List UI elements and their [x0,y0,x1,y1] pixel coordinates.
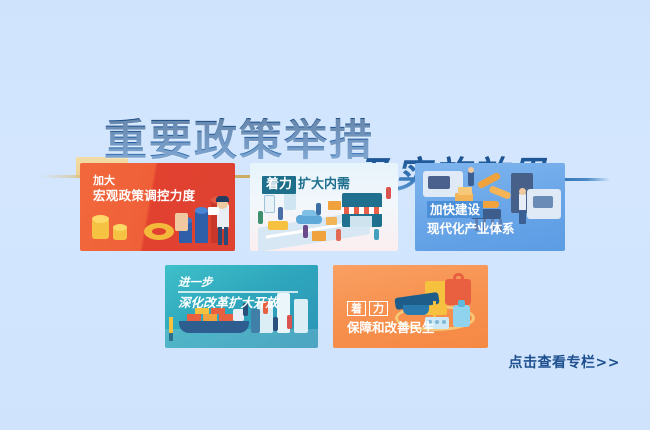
card-livelihood[interactable]: 着力 保障和改善民生 [333,265,488,348]
page-title-line1: 重要政策举措 [104,118,374,164]
card-caption: 加大 宏观政策调控力度 [93,174,195,204]
card-expand-demand[interactable]: 着力扩大内需 [250,163,398,251]
card-macro-policy[interactable]: 加大 宏观政策调控力度 [80,163,235,251]
card-caption-line1: 加快建设 [427,201,483,219]
card-reform-opening[interactable]: 进一步 深化改革扩大开放 [165,265,318,348]
card-caption: 进一步 深化改革扩大开放 [178,275,298,311]
card-caption-line2: 宏观政策调控力度 [93,188,195,203]
card-caption-rest: 扩大内需 [298,177,350,192]
card-caption-tag2: 力 [369,301,388,317]
card-caption-line1: 加大 [93,174,115,187]
view-column-link[interactable]: 点击查看专栏>> [509,352,620,372]
card-modern-industry[interactable]: 加快建设 现代化产业体系 [415,163,565,251]
title-block: 重要政策举措 及实施效果 [0,56,650,146]
card-caption-line2: 保障和改善民生 [347,320,435,335]
card-caption: 着力 保障和改善民生 [347,300,435,336]
card-caption-tag: 着力 [262,176,296,194]
card-caption: 着力扩大内需 [262,176,350,194]
card-caption-tag1: 着 [347,301,366,317]
card-caption: 加快建设 现代化产业体系 [427,201,515,237]
card-caption-line2: 深化改革扩大开放 [178,295,278,310]
card-caption-line2: 现代化产业体系 [427,221,515,236]
card-caption-line1: 进一步 [178,275,213,289]
